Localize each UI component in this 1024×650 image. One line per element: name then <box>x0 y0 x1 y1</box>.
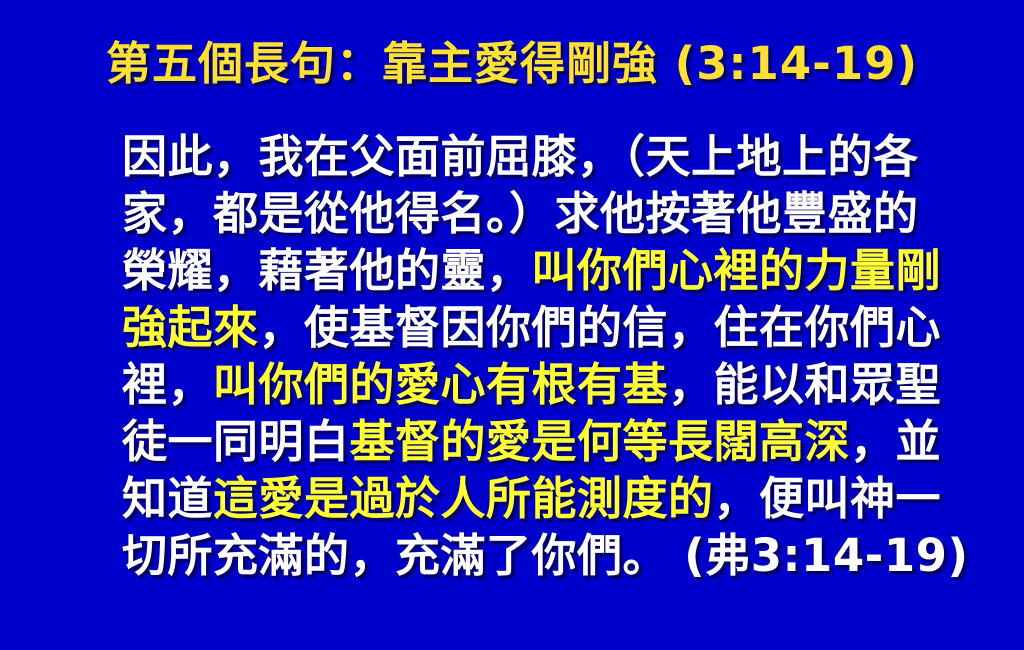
verse-plain-text: ，並 <box>850 415 941 468</box>
verse-line: 因此，我在父面前屈膝，（天上地上的各 <box>122 128 912 185</box>
verse-plain-text: 因此，我在父面前屈膝，（天上地上的各 <box>122 130 919 183</box>
verse-line: 徒一同明白基督的愛是何等長闊高深，並 <box>122 413 912 470</box>
verse-line: 榮耀，藉著他的靈，叫你們心裡的力量剛 <box>122 242 912 299</box>
verse-plain-text: 徒一同明白 <box>122 415 350 468</box>
verse-highlight-text: 叫你們的愛心有根有基 <box>213 358 668 411</box>
verse-plain-text: 裡， <box>122 358 213 411</box>
verse-line: 知道這愛是過於人所能測度的，便叫神一 <box>122 470 912 527</box>
verse-highlight-text: 強起來 <box>122 301 259 354</box>
verse-plain-text: ，使基督因你們的信，住在你們心 <box>259 301 942 354</box>
verse-plain-text: ，能以和眾聖 <box>668 358 941 411</box>
page-title: 第五個長句：靠主愛得剛強 (3:14-19) <box>106 36 918 92</box>
verse-plain-text: ，便叫神一 <box>714 472 942 525</box>
verse-line: 家，都是從他得名。）求他按著他豐盛的 <box>122 185 912 242</box>
verse-line: 切所充滿的，充滿了你們。 (弗3:14-19) <box>122 527 912 584</box>
verse-line: 裡，叫你們的愛心有根有基，能以和眾聖 <box>122 356 912 413</box>
verse-line: 強起來，使基督因你們的信，住在你們心 <box>122 299 912 356</box>
verse-plain-text: 榮耀，藉著他的靈， <box>122 244 532 297</box>
presentation-slide: 第五個長句：靠主愛得剛強 (3:14-19) 因此，我在父面前屈膝，（天上地上的… <box>0 0 1024 650</box>
verse-plain-text: 知道 <box>122 472 213 525</box>
verse-highlight-text: 叫你們心裡的力量剛 <box>532 244 942 297</box>
verse-plain-text: 家，都是從他得名。）求他按著他豐盛的 <box>122 187 919 240</box>
verse-plain-text: 切所充滿的，充滿了你們。 (弗3:14-19) <box>122 529 969 582</box>
scripture-body: 因此，我在父面前屈膝，（天上地上的各家，都是從他得名。）求他按著他豐盛的榮耀，藉… <box>122 128 912 584</box>
verse-highlight-text: 基督的愛是何等長闊高深 <box>350 415 851 468</box>
slide-title-block: 第五個長句：靠主愛得剛強 (3:14-19) <box>0 36 1024 92</box>
verse-highlight-text: 這愛是過於人所能測度的 <box>213 472 714 525</box>
